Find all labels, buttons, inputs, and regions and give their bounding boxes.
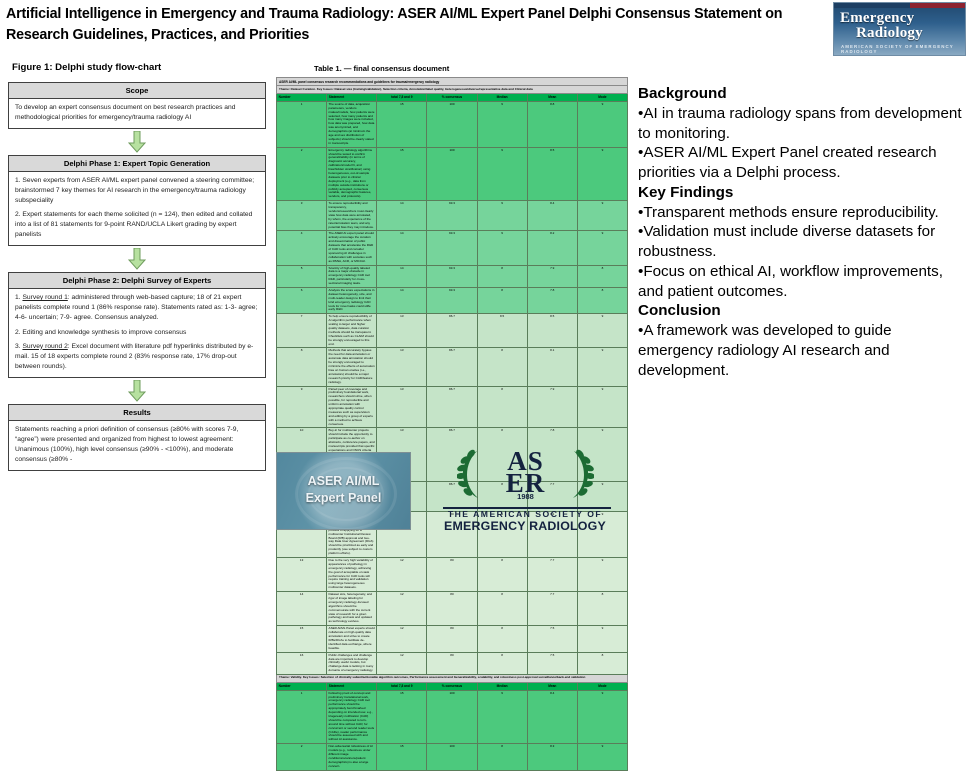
cell-total: 12	[377, 558, 427, 592]
cell-statement: Due to the very high variability of appe…	[327, 558, 377, 592]
emergency-radiology-journal-logo: Emergency Radiology AMERICAN SOCIETY OF …	[833, 2, 966, 56]
cell-pct-consensus: 100	[427, 690, 477, 744]
panel-logo-text: ASER AI/ML Expert Panel	[277, 473, 410, 507]
cell-mean: 7.7	[527, 592, 577, 626]
cell-median: 8	[477, 558, 527, 592]
cell-total: 13	[377, 314, 427, 348]
cell-mode: 9	[577, 201, 627, 231]
cell-median: 8	[477, 626, 527, 652]
table-row: 7To help ensure reproducibility of AI al…	[277, 314, 628, 348]
flow-box-body: To develop an expert consensus document …	[9, 99, 265, 128]
table-column-header: total 7,8 and 9	[377, 93, 427, 101]
table-column-header: Number	[277, 682, 327, 690]
cell-mode: 8	[577, 288, 627, 314]
cell-statement: Public challenges and challenge data are…	[327, 652, 377, 674]
table-row: 2Emergency radiology algorithms should b…	[277, 147, 628, 201]
cell-total: 15	[377, 744, 427, 770]
table-theme-row: Theme: Dataset Curation. Key Issues: Dat…	[277, 86, 628, 94]
cell-total: 14	[377, 201, 427, 231]
figure-caption: Figure 1: Delphi study flow-chart	[12, 62, 268, 73]
cell-total: 12	[377, 626, 427, 652]
cell-median: 9	[477, 201, 527, 231]
cell-number: 8	[277, 348, 327, 386]
cell-pct-consensus: 100	[427, 744, 477, 770]
table-column-header: Statement	[327, 93, 377, 101]
table-row: 15ASER AI/ML Panel experts should collab…	[277, 626, 628, 652]
consensus-table-region: Table 1. — final consensus document ASER…	[276, 64, 628, 771]
cell-statement: Emergency radiology algorithms should be…	[327, 147, 377, 201]
cell-pct-consensus: 80	[427, 558, 477, 592]
cell-mode: 9	[577, 558, 627, 592]
table-column-header: Mode	[577, 93, 627, 101]
cell-mode: 9	[577, 386, 627, 428]
summary-bullet: •ASER AI/ML Expert Panel created researc…	[638, 143, 968, 183]
cell-statement: Methods that accurately bypass the need …	[327, 348, 377, 386]
cell-mode: 8	[577, 265, 627, 287]
table-column-header: % consensus	[427, 682, 477, 690]
flowchart-box-list: ScopeTo develop an expert consensus docu…	[6, 82, 268, 471]
summary-bullet: •AI in trauma radiology spans from devel…	[638, 104, 968, 144]
cell-mean: 7.9	[527, 265, 577, 287]
flow-box-heading: Scope	[9, 83, 265, 99]
flow-box-1: ScopeTo develop an expert consensus docu…	[8, 82, 266, 129]
cell-mode: 9	[577, 744, 627, 770]
cell-number: 3	[277, 201, 327, 231]
cell-mode: 9	[577, 147, 627, 201]
cell-pct-consensus: 93.3	[427, 201, 477, 231]
cell-pct-consensus: 80	[427, 626, 477, 652]
table-row: 1Following proof-of-concept and prelimin…	[277, 690, 628, 744]
cell-mean: 8.2	[527, 231, 577, 265]
flow-box-heading: Results	[9, 405, 265, 421]
cell-total: 15	[377, 101, 427, 147]
cell-number: 1	[277, 101, 327, 147]
flow-box-3: Delphi Phase 2: Delphi Survey of Experts…	[8, 272, 266, 377]
cell-number: 7	[277, 314, 327, 348]
cell-number: 15	[277, 626, 327, 652]
table-row: 9Paired peer of coverage and preliminary…	[277, 386, 628, 428]
table-column-header: Mode	[577, 682, 627, 690]
flow-box-2: Delphi Phase 1: Expert Topic Generation1…	[8, 155, 266, 246]
flow-box-4: ResultsStatements reaching a priori defi…	[8, 404, 266, 471]
cell-number: 2	[277, 147, 327, 201]
cell-mean: 8.4	[527, 690, 577, 744]
page-title: Artificial Intelligence in Emergency and…	[6, 4, 818, 45]
cell-median: 8	[477, 652, 527, 674]
flow-box-paragraph: To develop an expert consensus document …	[15, 103, 259, 123]
table-column-header: Median	[477, 93, 527, 101]
cell-pct-consensus: 86.7	[427, 386, 477, 428]
flow-box-heading: Delphi Phase 2: Delphi Survey of Experts	[9, 273, 265, 289]
cell-median: 8	[477, 265, 527, 287]
table-theme-cell: Theme: Validity. Key Issues: Selection o…	[277, 675, 628, 683]
table-column-header: % consensus	[427, 93, 477, 101]
table-column-header: Number	[277, 93, 327, 101]
cell-mean: 7.5	[527, 626, 577, 652]
table-row: 4The ASER AI expert panel should activel…	[277, 231, 628, 265]
table-theme-row: Theme: Validity. Key Issues: Selection o…	[277, 675, 628, 683]
table-column-header: Median	[477, 682, 527, 690]
flow-arrow-1	[128, 131, 146, 153]
cell-median: 8	[477, 386, 527, 428]
cell-statement: The ASER AI expert panel should actively…	[327, 231, 377, 265]
cell-total: 14	[377, 288, 427, 314]
journal-logo-tagline: AMERICAN SOCIETY OF EMERGENCY RADIOLOGY	[841, 44, 965, 54]
table-row: 1The source of data, acquisition paramet…	[277, 101, 628, 147]
flow-box-paragraph: 1. Seven experts from ASER AI/ML expert …	[15, 176, 259, 206]
cell-mode: 8	[577, 592, 627, 626]
cell-mode: 9	[577, 690, 627, 744]
cell-median: 8	[477, 592, 527, 626]
flow-box-paragraph: 3. Survey round 2: Excel document with l…	[15, 342, 259, 372]
table-column-header: Statement	[327, 682, 377, 690]
table-row: 6Analysis the score expectations in data…	[277, 288, 628, 314]
table-column-header: total 7,8 and 9	[377, 682, 427, 690]
summary-heading: Background	[638, 84, 968, 104]
cell-number: 9	[277, 386, 327, 428]
summary-bullet: •Transparent methods ensure reproducibil…	[638, 203, 968, 223]
cell-total: 12	[377, 592, 427, 626]
cell-statement: To help ensure reproducibility of AI alg…	[327, 314, 377, 348]
flow-arrow-3	[128, 380, 146, 402]
consensus-table: ASER AI/ML panel consensus research reco…	[276, 77, 628, 771]
table-title-cell: ASER AI/ML panel consensus research reco…	[277, 78, 628, 86]
cell-number: 6	[277, 288, 327, 314]
delphi-flowchart: Figure 1: Delphi study flow-chart ScopeT…	[6, 62, 268, 471]
cell-mean: 7.8	[527, 288, 577, 314]
cell-median: 8	[477, 288, 527, 314]
table-column-header: Mean	[527, 93, 577, 101]
cell-mean: 8.4	[527, 201, 577, 231]
summary-column: Background•AI in trauma radiology spans …	[638, 84, 968, 380]
aser-founding-year: 1988	[453, 492, 598, 501]
cell-mode: 9	[577, 101, 627, 147]
cell-statement: The source of data, acquisition paramete…	[327, 101, 377, 147]
cell-mean: 7.5	[527, 652, 577, 674]
cell-mode: 9	[577, 348, 627, 386]
table-title-row: ASER AI/ML panel consensus research reco…	[277, 78, 628, 86]
panel-logo-line2: Expert Panel	[277, 490, 410, 507]
cell-mean: 7.9	[527, 386, 577, 428]
cell-pct-consensus: 93.3	[427, 231, 477, 265]
cell-number: 13	[277, 558, 327, 592]
aser-subtitle-line2: EMERGENCY RADIOLOGY	[425, 519, 625, 533]
flow-box-body: Statements reaching a priori definition …	[9, 421, 265, 470]
aser-monogram: AS ER 1988	[453, 446, 598, 504]
table-row: 13Due to the very high variability of ap…	[277, 558, 628, 592]
cell-number: 14	[277, 592, 327, 626]
flow-box-heading: Delphi Phase 1: Expert Topic Generation	[9, 156, 265, 172]
cell-median: 8	[477, 744, 527, 770]
summary-heading: Key Findings	[638, 183, 968, 203]
cell-statement: To ensure reproducibility and transparen…	[327, 201, 377, 231]
cell-total: 14	[377, 265, 427, 287]
table-column-header-row: NumberStatementtotal 7,8 and 9% consensu…	[277, 93, 628, 101]
cell-total: 14	[377, 231, 427, 265]
cell-pct-consensus: 100	[427, 147, 477, 201]
cell-total: 13	[377, 386, 427, 428]
cell-number: 5	[277, 265, 327, 287]
table-column-header-row: NumberStatementtotal 7,8 and 9% consensu…	[277, 682, 628, 690]
cell-pct-consensus: 80	[427, 652, 477, 674]
flow-box-paragraph: 2. Editing and knowledge synthesis to im…	[15, 328, 259, 338]
cell-median: 8.5	[477, 314, 527, 348]
flow-box-body: 1. Seven experts from ASER AI/ML expert …	[9, 172, 265, 245]
cell-statement: Non-adversarial robustness of AI models …	[327, 744, 377, 770]
table-row: 5Scarcity of high-quality labeled data i…	[277, 265, 628, 287]
table-row: 8Methods that accurately bypass the need…	[277, 348, 628, 386]
cell-mean: 8.5	[527, 314, 577, 348]
cell-mode: 9	[577, 314, 627, 348]
cell-median: 9	[477, 231, 527, 265]
cell-mean: 8.5	[527, 147, 577, 201]
cell-median: 9	[477, 101, 527, 147]
panel-logo-line1: ASER AI/ML	[277, 473, 410, 490]
cell-mean: 8.3	[527, 744, 577, 770]
cell-statement: ASER AI/ML Panel experts should collabor…	[327, 626, 377, 652]
aser-ai-ml-expert-panel-logo: ASER AI/ML Expert Panel	[276, 452, 411, 530]
cell-total: 15	[377, 690, 427, 744]
cell-total: 15	[377, 147, 427, 201]
cell-mean: 8.8	[527, 101, 577, 147]
cell-mean: 8.1	[527, 348, 577, 386]
cell-pct-consensus: 93.3	[427, 265, 477, 287]
cell-mode: 8	[577, 652, 627, 674]
journal-logo-line2: Radiology	[856, 25, 923, 42]
flow-box-paragraph: 2. Expert statements for each theme soli…	[15, 210, 259, 240]
cell-mode: 9	[577, 231, 627, 265]
aser-society-logo: AS ER 1988 THE AMERICAN SOCIETY OF EMERG…	[425, 446, 625, 534]
cell-statement: Paired peer of coverage and preliminary …	[327, 386, 377, 428]
summary-bullet: •Focus on ethical AI, workflow improveme…	[638, 262, 968, 302]
table-row: 16Public challenges and challenge data a…	[277, 652, 628, 674]
table-row: 3To ensure reproducibility and transpare…	[277, 201, 628, 231]
summary-bullet: •Validation must include diverse dataset…	[638, 222, 968, 262]
cell-median: 9	[477, 690, 527, 744]
cell-mode: 9	[577, 626, 627, 652]
table-caption: Table 1. — final consensus document	[314, 64, 628, 73]
flow-box-paragraph: 1. Survey round 1: administered through …	[15, 293, 259, 323]
cell-total: 13	[377, 348, 427, 386]
table-theme-cell: Theme: Dataset Curation. Key Issues: Dat…	[277, 86, 628, 94]
cell-number: 16	[277, 652, 327, 674]
cell-number: 4	[277, 231, 327, 265]
cell-pct-consensus: 100	[427, 101, 477, 147]
logo-top-bar	[834, 3, 965, 8]
cell-pct-consensus: 93.3	[427, 288, 477, 314]
cell-pct-consensus: 80	[427, 592, 477, 626]
poster-header: Artificial Intelligence in Emergency and…	[0, 0, 969, 58]
cell-pct-consensus: 86.7	[427, 348, 477, 386]
cell-pct-consensus: 86.7	[427, 314, 477, 348]
cell-total: 12	[377, 652, 427, 674]
summary-heading: Conclusion	[638, 301, 968, 321]
cell-number: 2	[277, 744, 327, 770]
cell-number: 1	[277, 690, 327, 744]
table-row: 14Dataset size, heterogeneity, and rigor…	[277, 592, 628, 626]
flow-box-body: 1. Survey round 1: administered through …	[9, 289, 265, 376]
cell-statement: Dataset size, heterogeneity, and rigor o…	[327, 592, 377, 626]
cell-median: 8	[477, 348, 527, 386]
cell-statement: Scarcity of high-quality labeled data is…	[327, 265, 377, 287]
flow-box-paragraph: Statements reaching a priori definition …	[15, 425, 259, 465]
cell-mean: 7.7	[527, 558, 577, 592]
cell-median: 9	[477, 147, 527, 201]
cell-statement: Following proof-of-concept and prelimina…	[327, 690, 377, 744]
cell-statement: Analysis the score expectations in datas…	[327, 288, 377, 314]
table-column-header: Mean	[527, 682, 577, 690]
table-row: 2Non-adversarial robustness of AI models…	[277, 744, 628, 770]
aser-subtitle-line1: THE AMERICAN SOCIETY OF	[425, 509, 625, 519]
summary-bullet: •A framework was developed to guide emer…	[638, 321, 968, 380]
flow-arrow-2	[128, 248, 146, 270]
